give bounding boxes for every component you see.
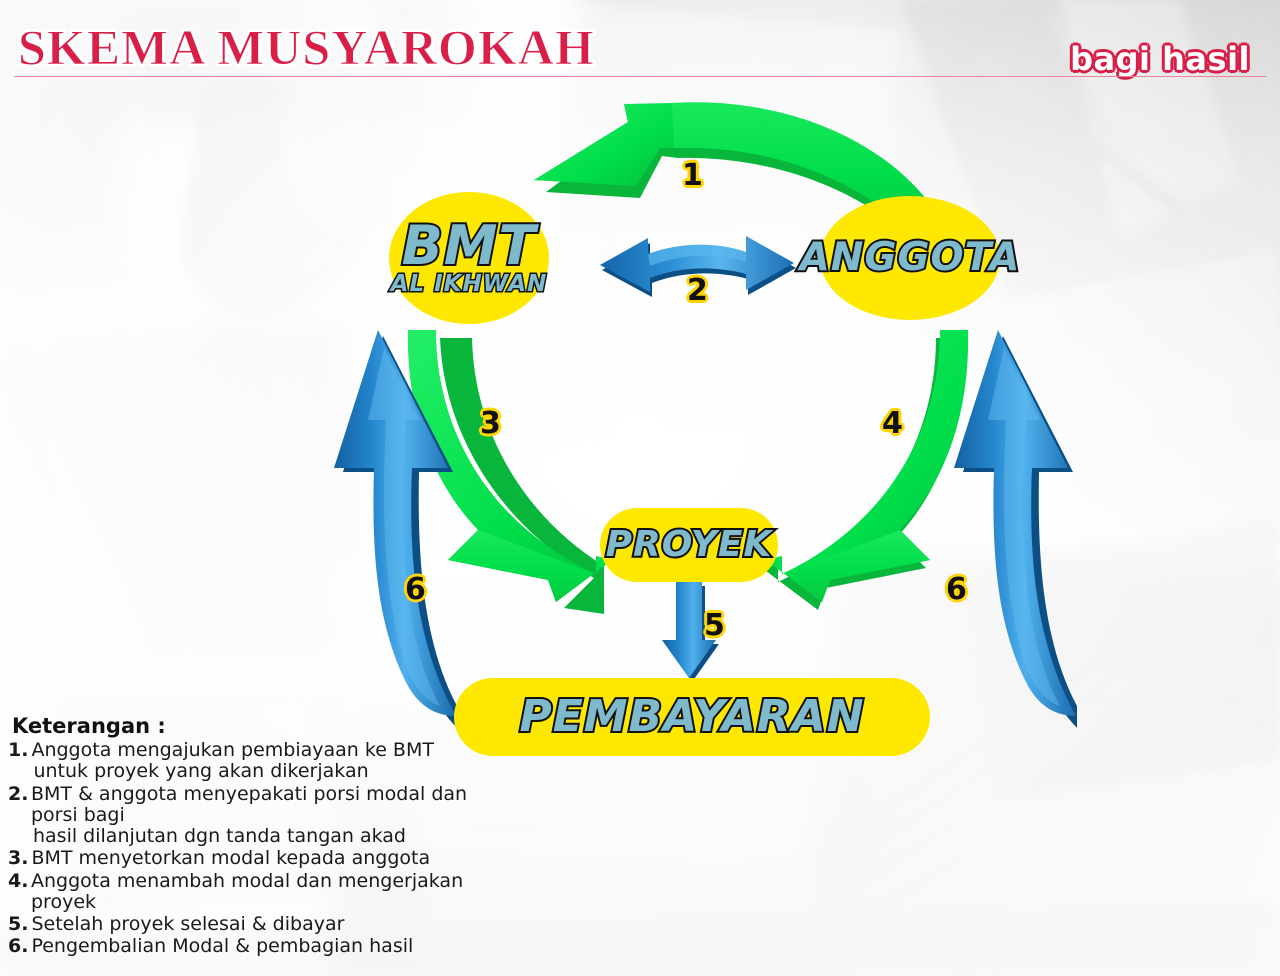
legend-item-line1: Anggota menambah modal dan mengerjakan p… xyxy=(31,870,463,913)
legend-item: 4. Anggota menambah modal dan mengerjaka… xyxy=(8,871,478,914)
legend-item-text: Setelah proyek selesai & dibayar xyxy=(31,914,344,935)
legend-item: 1. Anggota mengajukan pembiayaan ke BMT … xyxy=(8,740,478,783)
legend-item-text: Anggota mengajukan pembiayaan ke BMT unt… xyxy=(31,740,434,783)
legend-item-line1: Anggota mengajukan pembiayaan ke BMT xyxy=(31,739,434,761)
legend-item-number: 2. xyxy=(8,784,28,805)
node-bmt[interactable]: BMT AL IKHWAN xyxy=(389,192,549,324)
legend-item: 5. Setelah proyek selesai & dibayar xyxy=(8,914,478,935)
legend-item: 2. BMT & anggota menyepakati porsi modal… xyxy=(8,784,478,848)
legend-item-number: 6. xyxy=(8,936,28,957)
legend-item-line1: Setelah proyek selesai & dibayar xyxy=(31,913,344,935)
arrow-number-4: 4 xyxy=(882,406,903,441)
node-bmt-sublabel: AL IKHWAN xyxy=(391,274,548,296)
arrow-number-2: 2 xyxy=(687,273,708,308)
legend-item-line1: Pengembalian Modal & pembagian hasil xyxy=(31,935,413,957)
arrow-number-6-right: 6 xyxy=(946,572,967,607)
arrow-number-5: 5 xyxy=(704,608,725,643)
arrow-number-3: 3 xyxy=(480,406,501,441)
node-bmt-label: BMT xyxy=(402,220,537,271)
slide-canvas: SKEMA MUSYAROKAH bagi hasil xyxy=(0,0,1280,976)
legend: Keterangan : 1. Anggota mengajukan pembi… xyxy=(8,714,478,959)
legend-item-text: BMT menyetorkan modal kepada anggota xyxy=(31,848,430,869)
arrow-4-anggota-to-proyek xyxy=(762,330,968,610)
legend-item: 6. Pengembalian Modal & pembagian hasil xyxy=(8,936,478,957)
legend-item-number: 4. xyxy=(8,871,28,892)
node-pembayaran-label: PEMBAYARAN xyxy=(519,696,864,738)
node-anggota-label: ANGGOTA xyxy=(800,239,1021,276)
legend-item-text: Anggota menambah modal dan mengerjakan p… xyxy=(31,871,478,914)
legend-title: Keterangan : xyxy=(12,714,478,738)
legend-list: 1. Anggota mengajukan pembiayaan ke BMT … xyxy=(8,740,478,958)
legend-item-text: BMT & anggota menyepakati porsi modal da… xyxy=(31,784,478,848)
legend-item-line2: untuk proyek yang akan dikerjakan xyxy=(31,761,434,782)
node-pembayaran[interactable]: PEMBAYARAN xyxy=(454,678,930,756)
legend-item-line1: BMT & anggota menyepakati porsi modal da… xyxy=(31,783,467,826)
arrow-number-1: 1 xyxy=(682,158,703,193)
legend-item: 3. BMT menyetorkan modal kepada anggota xyxy=(8,848,478,869)
node-proyek[interactable]: PROYEK xyxy=(600,508,778,582)
legend-item-number: 3. xyxy=(8,848,28,869)
node-proyek-label: PROYEK xyxy=(606,528,773,562)
arrow-6-pembayaran-to-anggota xyxy=(954,330,1077,728)
legend-item-number: 1. xyxy=(8,740,28,761)
legend-item-number: 5. xyxy=(8,914,28,935)
node-anggota[interactable]: ANGGOTA xyxy=(820,196,1000,320)
legend-item-line2: hasil dilanjutan dgn tanda tangan akad xyxy=(31,826,478,847)
arrow-number-6-left: 6 xyxy=(405,572,426,607)
legend-item-text: Pengembalian Modal & pembagian hasil xyxy=(31,936,413,957)
legend-item-line1: BMT menyetorkan modal kepada anggota xyxy=(31,847,430,869)
